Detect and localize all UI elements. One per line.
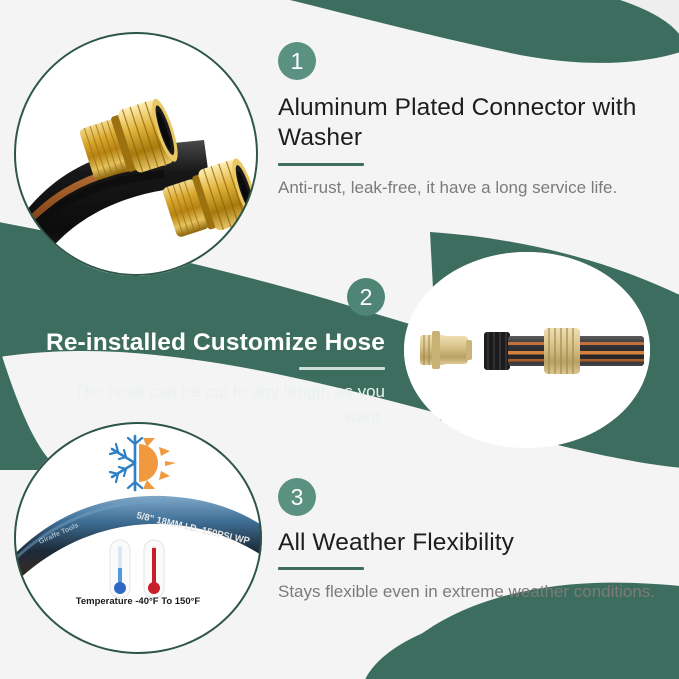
- thermometer-group: [102, 538, 174, 600]
- feature-block-3: 3 All Weather Flexibility Stays flexible…: [278, 478, 670, 605]
- infographic-canvas: 5/8" 18MM I.D. 150PSI WP Giraffe Tools: [0, 0, 679, 679]
- feature-block-2: 2 Re-installed Customize Hose The hose c…: [40, 278, 385, 430]
- feature-number-badge-3: 3: [278, 478, 316, 516]
- brass-connector-photo: [14, 32, 258, 276]
- thermometer-cold-icon: [110, 540, 130, 598]
- feature-title-2: Re-installed Customize Hose: [40, 328, 385, 358]
- feature-block-1: 1 Aluminum Plated Connector with Washer …: [278, 42, 670, 200]
- feature-number-badge-1: 1: [278, 42, 316, 80]
- repair-fitting-photo: [404, 252, 650, 448]
- feature-subtitle-1: Anti-rust, leak-free, it have a long ser…: [278, 176, 670, 201]
- feature-image-1: [14, 32, 258, 276]
- temperature-range-label: Temperature -40°F To 150°F: [20, 596, 256, 607]
- feature-subtitle-3: Stays flexible even in extreme weather c…: [278, 580, 670, 605]
- feature-image-2: [404, 252, 650, 448]
- feature-subtitle-2: The hose can be cut to any length as you…: [40, 380, 385, 429]
- feature-number-badge-2: 2: [347, 278, 385, 316]
- feature-number-badge-2-wrap: 2: [40, 278, 385, 316]
- snowflake-icon: [110, 436, 142, 490]
- feature-title-1: Aluminum Plated Connector with Washer: [278, 93, 670, 154]
- feature-divider-2: [299, 367, 385, 370]
- half-sun-icon: [139, 438, 176, 489]
- thermometer-hot-icon: [144, 540, 164, 598]
- feature-divider-1: [278, 163, 364, 166]
- feature-divider-3: [278, 567, 364, 570]
- feature-title-3: All Weather Flexibility: [278, 528, 670, 558]
- weather-icon-group: [93, 432, 179, 494]
